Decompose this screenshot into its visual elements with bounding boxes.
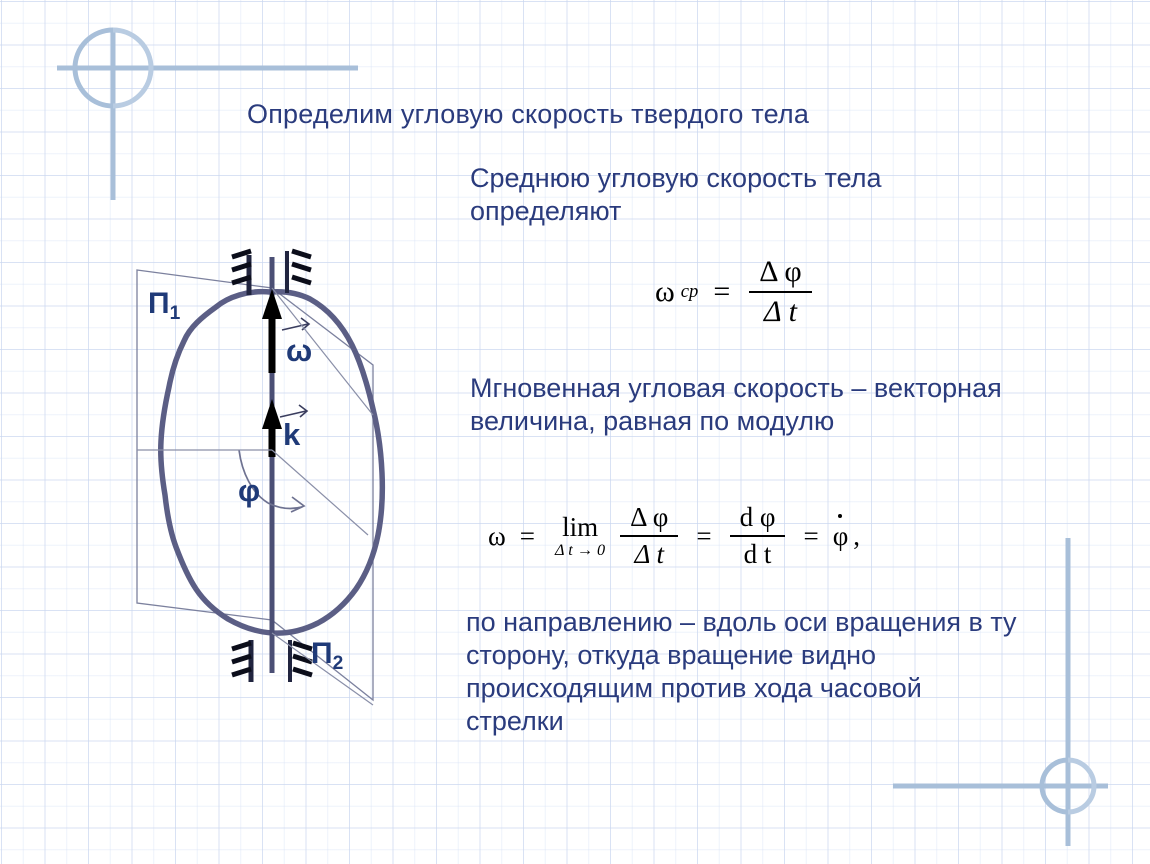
formula-instant-angular-velocity: ω = lim Δ t → 0 Δ φ Δ t = d φ d t = φ , [488,502,860,570]
page-title: Определим угловую скорость твердого тела [247,98,809,131]
fraction3-denominator: d t [734,537,782,570]
fraction-denominator: Δ t [754,293,807,329]
omega-label: ω [286,333,312,369]
plane-p1-letter: П [148,287,170,320]
formula2-limit-operator: lim Δ t → 0 [555,512,605,560]
formula-omega-symbol: ω [655,275,675,309]
phi-label: φ [238,473,260,509]
formula-fraction-delta-phi-over-delta-t: Δ φ Δ t [749,255,811,329]
fraction-numerator: Δ φ [749,255,811,291]
slide-canvas: Определим угловую скорость твердого тела… [0,0,1150,864]
formula-average-angular-velocity: ω ср = Δ φ Δ t [655,255,816,329]
plane-p1-subscript: 1 [170,303,181,324]
formula2-equals-sign-2: = [696,521,711,552]
formula2-fraction-derivative: d φ d t [730,502,786,570]
k-unit-vector-arrow [262,399,282,457]
paragraph-instant-intro: Мгновенная угловая скорость – векторная … [470,372,1015,438]
formula-omega-subscript: ср [681,281,699,303]
plane-p2-label: П2 [311,637,343,675]
formula2-equals-sign-1: = [520,521,535,552]
formula2-comma: , [853,521,860,552]
fraction2-numerator: Δ φ [620,502,678,535]
fraction3-numerator: d φ [730,502,786,535]
plane-p2-subscript: 2 [333,653,344,674]
formula2-equals-sign-3: = [803,521,818,552]
limit-subscript: Δ t → 0 [555,541,605,560]
omega-vector-hat-icon [282,318,309,330]
paragraph-direction: по направлению – вдоль оси вращения в ту… [466,606,1026,738]
formula2-fraction-delta: Δ φ Δ t [620,502,678,570]
limit-keyword: lim [562,512,598,543]
phi-symbol: φ [833,521,849,551]
rigid-body-rotation-diagram: П1 П2 ω k φ [120,245,450,715]
plane-p1-label: П1 [148,287,180,325]
formula2-omega-symbol: ω [488,521,506,552]
formula-equals-sign: = [713,275,730,309]
k-label: k [283,417,300,453]
fraction2-denominator: Δ t [624,537,674,570]
phi-dot-mark-icon [838,514,842,518]
paragraph-average-intro: Среднюю угловую скорость тела определяют [470,162,1030,228]
k-vector-hat-icon [280,405,307,417]
omega-vector-arrow [262,289,282,373]
plane-p2-letter: П [311,637,333,670]
formula2-phi-dot: φ [833,521,849,552]
